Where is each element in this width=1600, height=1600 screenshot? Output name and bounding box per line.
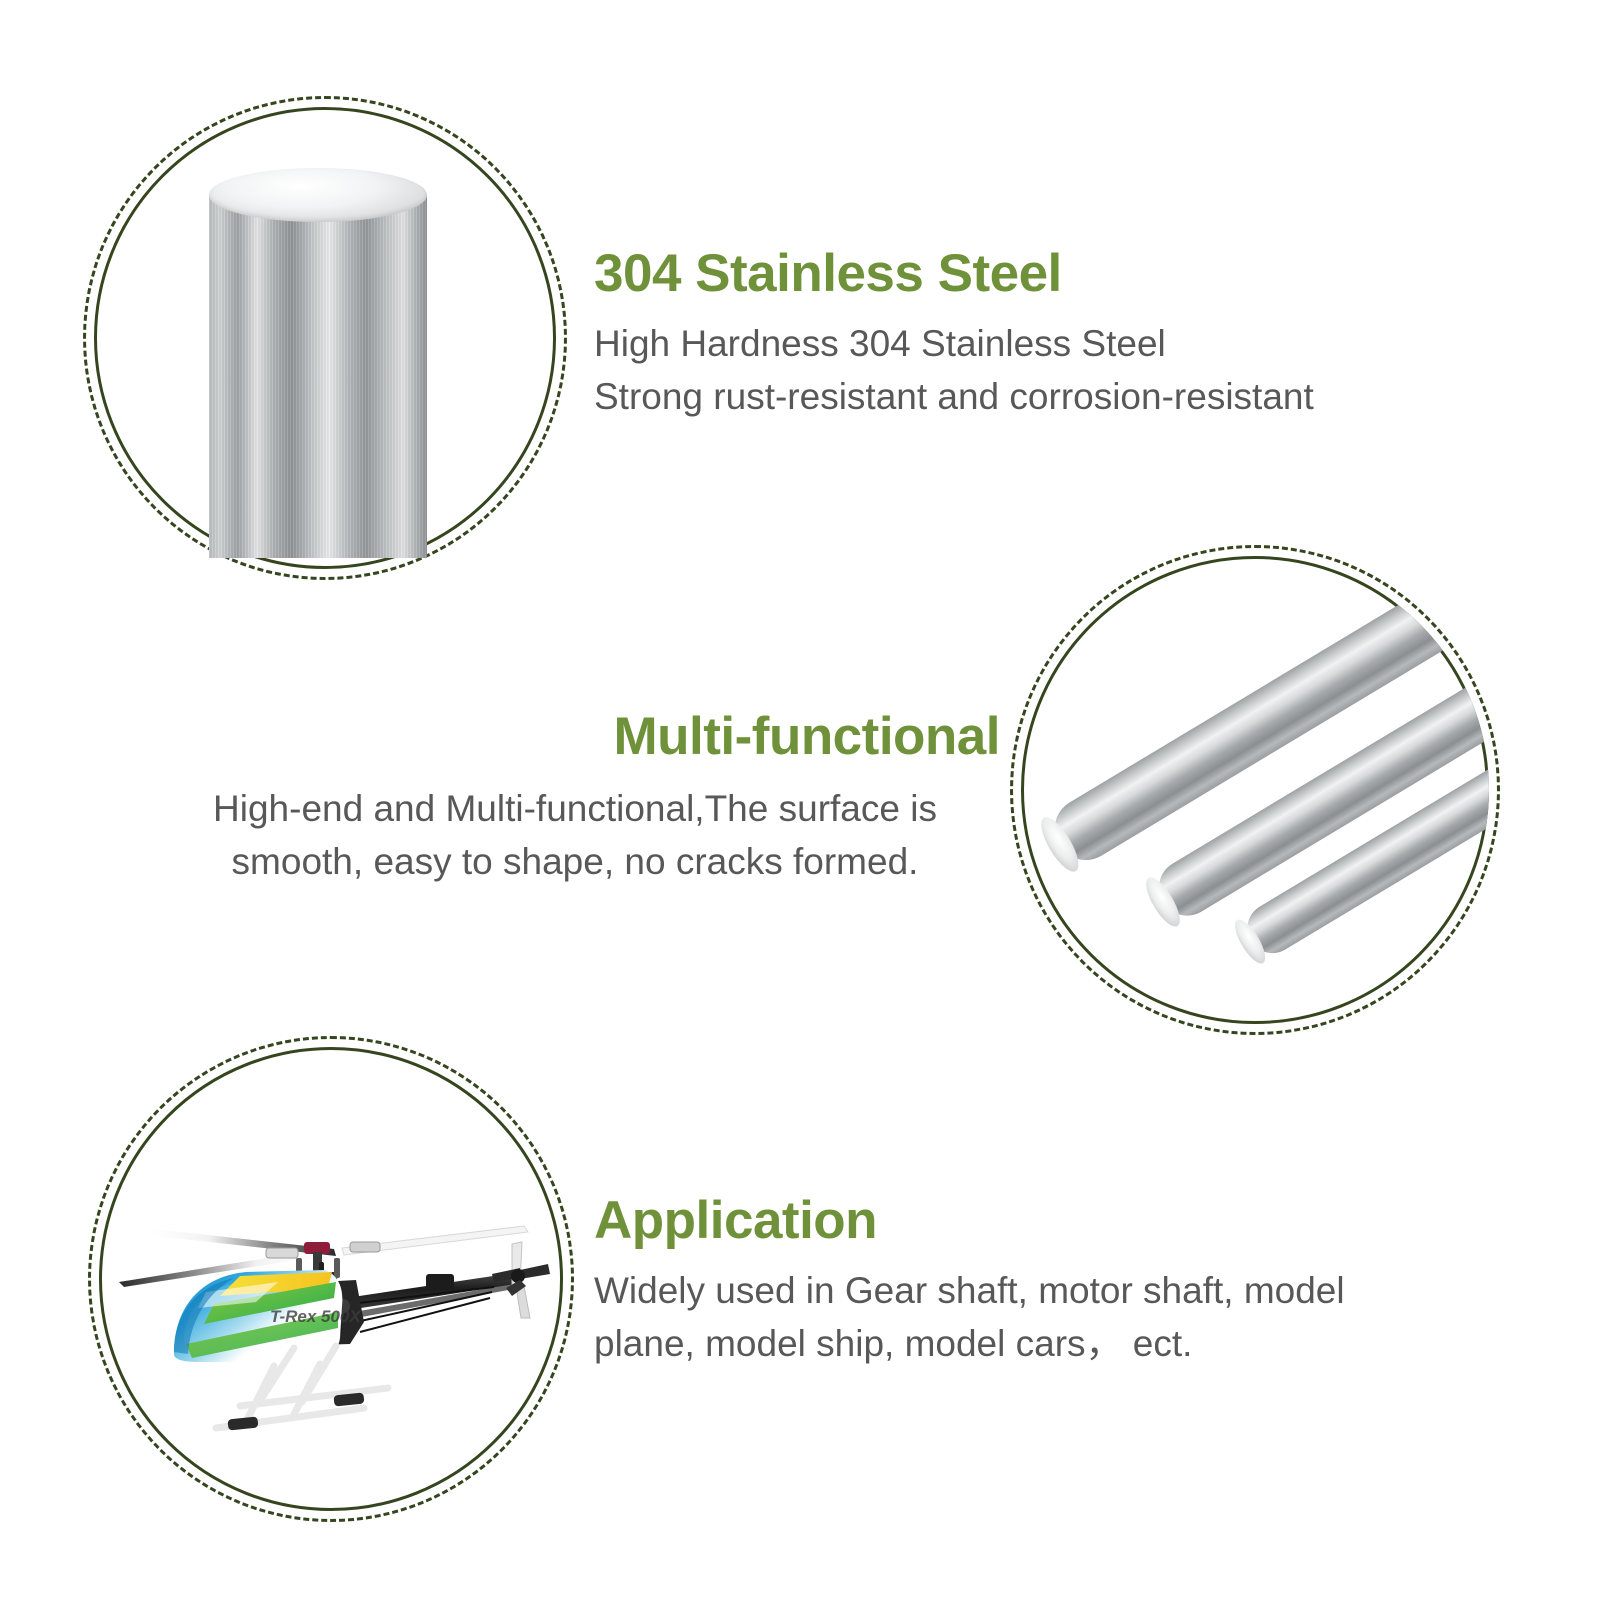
rc-helicopter-icon: T-Rex 500X	[88, 1036, 574, 1522]
feature-body-application: Widely used in Gear shaft, motor shaft, …	[594, 1264, 1454, 1370]
feature-block-steel: 304 Stainless Steel High Hardness 304 St…	[594, 243, 1424, 423]
feature-block-application: Application Widely used in Gear shaft, m…	[594, 1190, 1454, 1370]
infographic-stage: 304 Stainless Steel High Hardness 304 St…	[0, 0, 1600, 1600]
steel-rods-illustration	[1021, 556, 1489, 1024]
feature-block-multifunctional: Multi-functional High-end and Multi-func…	[150, 706, 1000, 888]
cylinder-side-surface	[209, 194, 427, 558]
feature-title-application: Application	[594, 1190, 1454, 1252]
feature-body-steel: High Hardness 304 Stainless Steel Strong…	[594, 317, 1424, 423]
svg-text:T-Rex 500X: T-Rex 500X	[270, 1307, 362, 1326]
feature-title-multifunctional: Multi-functional	[150, 706, 1000, 768]
medallion-application: T-Rex 500X	[88, 1036, 574, 1522]
rc-helicopter-illustration: T-Rex 500X	[88, 1036, 574, 1522]
steel-billet-illustration	[83, 96, 567, 580]
cylinder-top-face	[209, 168, 427, 222]
tail-rotor	[492, 1242, 550, 1318]
medallion-steel-billet	[83, 96, 567, 580]
medallion-steel-rods	[1010, 545, 1500, 1035]
feature-body-multifunctional: High-end and Multi-functional,The surfac…	[150, 782, 1000, 888]
feature-title-steel: 304 Stainless Steel	[594, 243, 1424, 305]
steel-cylinder-icon	[209, 168, 427, 558]
